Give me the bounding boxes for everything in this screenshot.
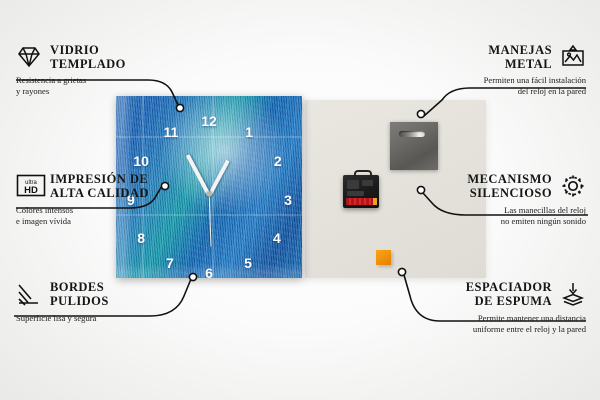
- clock-numeral-5: 5: [244, 256, 252, 270]
- grid-line: [212, 96, 214, 278]
- callout-desc: Superficie lisa y segura: [16, 313, 196, 324]
- clock-numeral-2: 2: [274, 154, 282, 168]
- callout-mecanismo-silencioso: MECANISMO SILENCIOSO Las manecillas del …: [400, 172, 586, 226]
- callout-title: BORDES PULIDOS: [50, 280, 109, 308]
- hanging-frame-icon: [560, 44, 586, 70]
- callout-bordes-pulidos: BORDES PULIDOS Superficie lisa y segura: [16, 280, 196, 324]
- callout-desc: Resistencia a grietas y rayones: [16, 75, 186, 96]
- diamond-icon: [16, 44, 42, 70]
- mechanism-detail: [347, 180, 359, 189]
- callout-header: MECANISMO SILENCIOSO: [400, 172, 586, 200]
- callout-title: IMPRESIÓN DE ALTA CALIDAD: [50, 172, 149, 200]
- callout-desc: Permiten una fácil instalación del reloj…: [406, 75, 586, 96]
- clock-numeral-11: 11: [163, 125, 178, 139]
- callout-header: ESPACIADOR DE ESPUMA: [396, 280, 586, 308]
- hour-hand: [207, 160, 229, 197]
- clock-numeral-1: 1: [245, 125, 253, 139]
- clock-hub: [207, 192, 212, 197]
- callout-header: VIDRIO TEMPLADO: [16, 43, 186, 71]
- clock-mechanism: [343, 175, 379, 208]
- foam-spacer: [376, 250, 391, 265]
- hanger-plate: [390, 122, 438, 170]
- svg-text:HD: HD: [24, 185, 38, 196]
- mechanism-handle: [354, 170, 372, 179]
- callout-title: MANEJAS METAL: [488, 43, 552, 71]
- clock-numeral-8: 8: [137, 231, 145, 245]
- clock-numeral-4: 4: [273, 231, 281, 245]
- clock-numeral-10: 10: [133, 154, 149, 168]
- callout-desc: Colores intensos e imagen vívida: [16, 205, 196, 226]
- callout-header: ultra HD IMPRESIÓN DE ALTA CALIDAD: [16, 172, 196, 200]
- grid-line: [116, 136, 302, 138]
- clock-numeral-3: 3: [284, 193, 292, 207]
- battery-terminal: [373, 198, 377, 205]
- clock-numeral-12: 12: [201, 114, 217, 128]
- gear-icon: [560, 173, 586, 199]
- callout-title: MECANISMO SILENCIOSO: [467, 172, 552, 200]
- callout-title: ESPACIADOR DE ESPUMA: [466, 280, 552, 308]
- mechanism-detail: [362, 180, 373, 186]
- second-hand: [208, 195, 211, 247]
- spacer-arrow-icon: [560, 281, 586, 307]
- callout-title: VIDRIO TEMPLADO: [50, 43, 126, 71]
- callout-manejas-metal: MANEJAS METAL Permiten una fácil instala…: [406, 43, 586, 96]
- callout-desc: Permite mantener una distancia uniforme …: [396, 313, 586, 334]
- callout-header: BORDES PULIDOS: [16, 280, 196, 308]
- callout-desc: Las manecillas del reloj no emiten ningú…: [400, 205, 586, 226]
- ultra-hd-icon: ultra HD: [16, 173, 42, 199]
- infographic-canvas: 12 1 2 3 4 5 6 7 8 9 10 11: [0, 0, 600, 400]
- callout-header: MANEJAS METAL: [406, 43, 586, 71]
- keyhole-slot: [399, 131, 425, 137]
- polished-edges-icon: [16, 281, 42, 307]
- callout-impresion: ultra HD IMPRESIÓN DE ALTA CALIDAD Color…: [16, 172, 196, 226]
- callout-espaciador-espuma: ESPACIADOR DE ESPUMA Permite mantener un…: [396, 280, 586, 334]
- callout-vidrio-templado: VIDRIO TEMPLADO Resistencia a grietas y …: [16, 43, 186, 96]
- mechanism-detail: [347, 191, 364, 196]
- battery: [346, 198, 376, 205]
- clock-numeral-7: 7: [166, 256, 174, 270]
- clock-numeral-6: 6: [205, 266, 213, 278]
